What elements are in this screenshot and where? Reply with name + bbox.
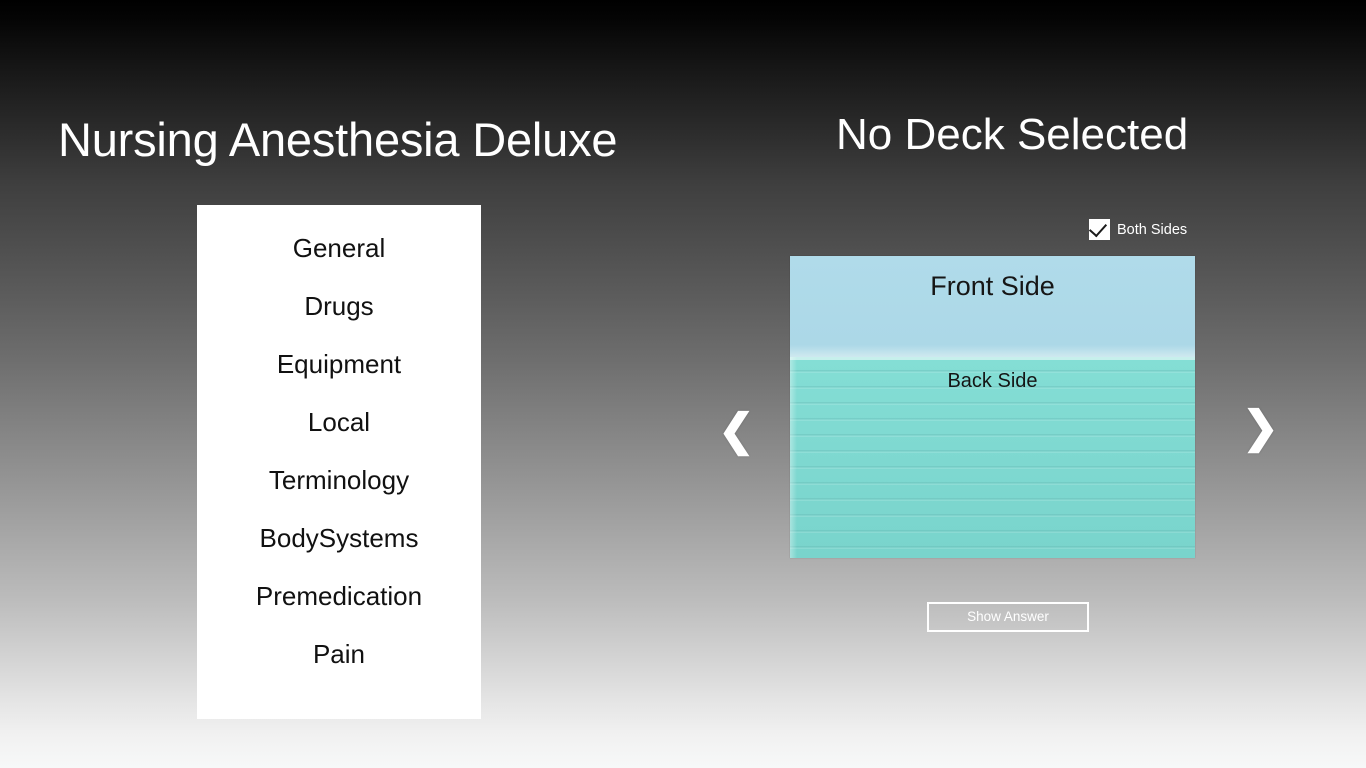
check-icon [1089, 219, 1107, 238]
both-sides-label: Both Sides [1117, 222, 1187, 238]
deck-list-item-premedication[interactable]: Premedication [197, 567, 481, 625]
flashcard-back[interactable]: Back Side [790, 357, 1195, 558]
deck-list-item-local[interactable]: Local [197, 393, 481, 451]
both-sides-checkbox-row[interactable]: Both Sides [1089, 219, 1187, 240]
deck-list-item-equipment[interactable]: Equipment [197, 335, 481, 393]
both-sides-checkbox[interactable] [1089, 219, 1110, 240]
flashcard-front[interactable]: Front Side [790, 256, 1195, 357]
previous-card-chevron-left-icon[interactable]: ❮ [718, 409, 755, 453]
flashcard[interactable]: Front Side Back Side [790, 256, 1195, 558]
deck-list-item-terminology[interactable]: Terminology [197, 451, 481, 509]
flashcard-front-label: Front Side [790, 271, 1195, 302]
deck-list-panel: General Drugs Equipment Local Terminolog… [197, 205, 481, 719]
deck-list: General Drugs Equipment Local Terminolog… [197, 205, 481, 683]
next-card-chevron-right-icon[interactable]: ❯ [1242, 406, 1279, 450]
flashcard-back-label: Back Side [790, 370, 1195, 393]
deck-title: No Deck Selected [836, 110, 1188, 160]
deck-list-item-pain[interactable]: Pain [197, 625, 481, 683]
deck-list-item-bodysystems[interactable]: BodySystems [197, 509, 481, 567]
page-title: Nursing Anesthesia Deluxe [58, 112, 617, 167]
deck-list-item-drugs[interactable]: Drugs [197, 277, 481, 335]
app-root: Nursing Anesthesia Deluxe General Drugs … [0, 0, 1366, 768]
show-answer-button[interactable]: Show Answer [927, 602, 1089, 632]
deck-list-item-general[interactable]: General [197, 219, 481, 277]
